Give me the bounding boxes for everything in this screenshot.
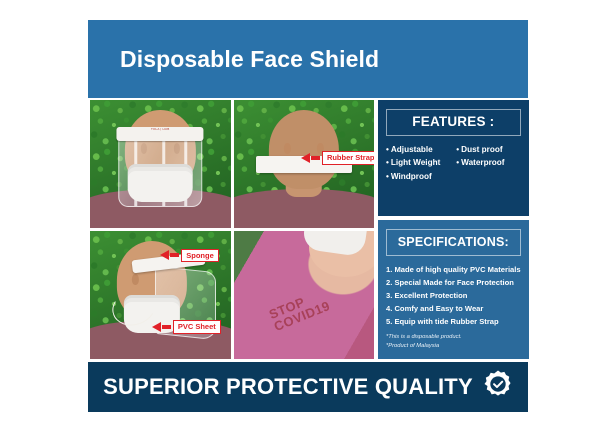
- check-seal-icon: [483, 369, 513, 404]
- features-title: FEATURES :: [412, 114, 494, 129]
- headband-brand-text: TOLA | HUB: [117, 127, 204, 132]
- product-infographic: Disposable Face Shield: [88, 20, 528, 398]
- arrow-tail: [162, 325, 171, 329]
- middle-section: TOLA | HUB: [88, 98, 528, 362]
- footer-tagline: SUPERIOR PROTECTIVE QUALITY: [103, 374, 473, 400]
- ear-left: [132, 274, 138, 284]
- header-bar: Disposable Face Shield: [88, 20, 528, 98]
- ear-left: [284, 143, 290, 153]
- photo-front-view: TOLA | HUB: [90, 100, 231, 228]
- feature-item: •Windproof: [386, 170, 450, 183]
- specifications-title: SPECIFICATIONS:: [398, 235, 509, 249]
- feature-item: •Adjustable: [386, 143, 450, 156]
- specifications-title-box: SPECIFICATIONS:: [386, 229, 521, 256]
- features-panel: FEATURES : •Adjustable •Light Weight •Wi…: [378, 100, 529, 216]
- spec-item: 4. Comfy and Easy to Wear: [386, 302, 521, 315]
- page-title: Disposable Face Shield: [88, 46, 379, 73]
- photo-side-view: Sponge PVC Sheet: [90, 231, 231, 359]
- features-columns: •Adjustable •Light Weight •Windproof •Du…: [386, 143, 521, 183]
- callout-label: PVC Sheet: [173, 320, 221, 334]
- specifications-panel: SPECIFICATIONS: 1. Made of high quality …: [378, 220, 529, 359]
- feature-label: Adjustable: [391, 145, 433, 154]
- features-title-box: FEATURES :: [386, 109, 521, 136]
- arrow-left-icon: [301, 153, 310, 163]
- feature-item: •Dust proof: [456, 143, 520, 156]
- arrow-tail: [170, 253, 179, 257]
- photo-back-view: Rubber Strap: [234, 100, 375, 228]
- arrow-tail: [311, 156, 320, 160]
- bullet-icon: •: [386, 172, 389, 181]
- photo-grid: TOLA | HUB: [88, 100, 378, 359]
- feature-label: Dust proof: [461, 145, 502, 154]
- specifications-list: 1. Made of high quality PVC Materials 2.…: [386, 263, 521, 328]
- callout-pvc-sheet: PVC Sheet: [152, 320, 221, 334]
- bullet-icon: •: [386, 145, 389, 154]
- feature-label: Waterproof: [461, 158, 504, 167]
- specifications-notes: *This is a disposable product. *Product …: [386, 333, 521, 350]
- photo-shirt-closeup: STOP COVID19: [234, 231, 375, 359]
- feature-label: Windproof: [391, 172, 432, 181]
- spec-item: 3. Excellent Protection: [386, 289, 521, 302]
- callout-label: Rubber Strap: [322, 151, 374, 165]
- spec-item: 2. Special Made for Face Protection: [386, 276, 521, 289]
- feature-item: •Light Weight: [386, 156, 450, 169]
- callout-sponge: Sponge: [160, 249, 219, 263]
- footer-banner: SUPERIOR PROTECTIVE QUALITY: [88, 362, 528, 412]
- bullet-icon: •: [456, 158, 459, 167]
- head-back: [269, 110, 339, 189]
- spec-note: *This is a disposable product.: [386, 333, 521, 342]
- spec-item: 5. Equip with tide Rubber Strap: [386, 315, 521, 328]
- feature-label: Light Weight: [391, 158, 440, 167]
- foam-headband: TOLA | HUB: [117, 127, 204, 141]
- arrow-left-icon: [160, 250, 169, 260]
- spec-item: 1. Made of high quality PVC Materials: [386, 263, 521, 276]
- bullet-icon: •: [386, 158, 389, 167]
- info-panels: FEATURES : •Adjustable •Light Weight •Wi…: [378, 100, 531, 359]
- bullet-icon: •: [456, 145, 459, 154]
- callout-label: Sponge: [181, 249, 219, 263]
- surgical-mask: [128, 164, 193, 202]
- arrow-left-icon: [152, 322, 161, 332]
- features-column-right: •Dust proof •Waterproof: [456, 143, 520, 183]
- person-front: TOLA | HUB: [90, 100, 231, 228]
- features-column-left: •Adjustable •Light Weight •Windproof: [386, 143, 450, 183]
- callout-rubber-strap: Rubber Strap: [301, 151, 374, 165]
- spec-note: *Product of Malaysia: [386, 342, 521, 351]
- feature-item: •Waterproof: [456, 156, 520, 169]
